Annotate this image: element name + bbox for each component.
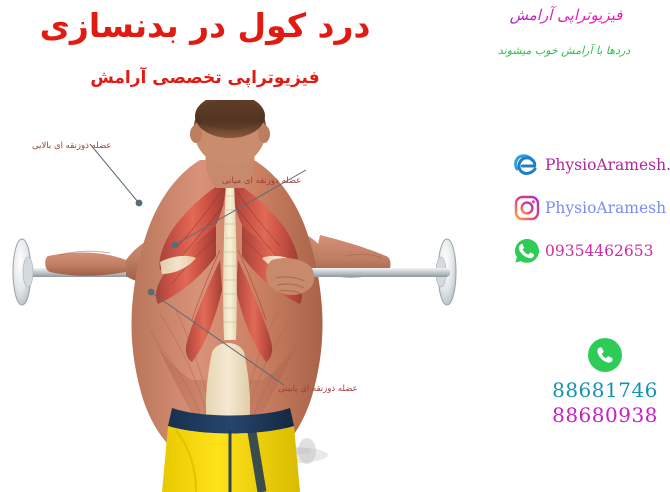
contact-row-website[interactable]: PhysioAramesh.i <box>512 148 670 182</box>
instagram-icon <box>512 194 542 222</box>
instagram-text: PhysioAramesh <box>542 199 666 217</box>
phone-icon <box>588 338 622 372</box>
brand-name-script: فیزیوتراپی آرامش <box>466 6 666 24</box>
website-text: PhysioAramesh.i <box>542 156 670 174</box>
poster-canvas: درد کول در بدنسازی فیزیوتراپی تخصصی آرام… <box>0 0 670 492</box>
internet-explorer-icon <box>512 151 542 179</box>
annotation-upper-trapezius: عضله ذوزنقه ای بالایی <box>32 141 111 151</box>
phone-number-2[interactable]: 88680938 <box>540 403 670 428</box>
annotation-middle-trapezius: عضله ذوزنقه ای میانی <box>222 176 301 186</box>
phone-number-1[interactable]: 88681746 <box>540 378 670 403</box>
brand-tagline-script: دردها با آرامش خوب میشوند <box>464 44 664 57</box>
page-subtitle: فیزیوتراپی تخصصی آرامش <box>10 68 400 88</box>
page-title: درد کول در بدنسازی <box>10 8 400 44</box>
contact-list: PhysioAramesh.i PhysioAra <box>512 148 670 277</box>
contact-row-whatsapp[interactable]: 09354462653 <box>512 234 670 268</box>
contact-row-instagram[interactable]: PhysioAramesh <box>512 191 670 225</box>
whatsapp-icon <box>512 237 542 265</box>
anatomy-illustration <box>0 100 470 492</box>
phone-block: 88681746 88680938 <box>540 338 670 428</box>
whatsapp-number-text: 09354462653 <box>542 242 653 260</box>
annotation-lower-trapezius: عضله ذوزنقه ای پایینی <box>278 384 358 394</box>
